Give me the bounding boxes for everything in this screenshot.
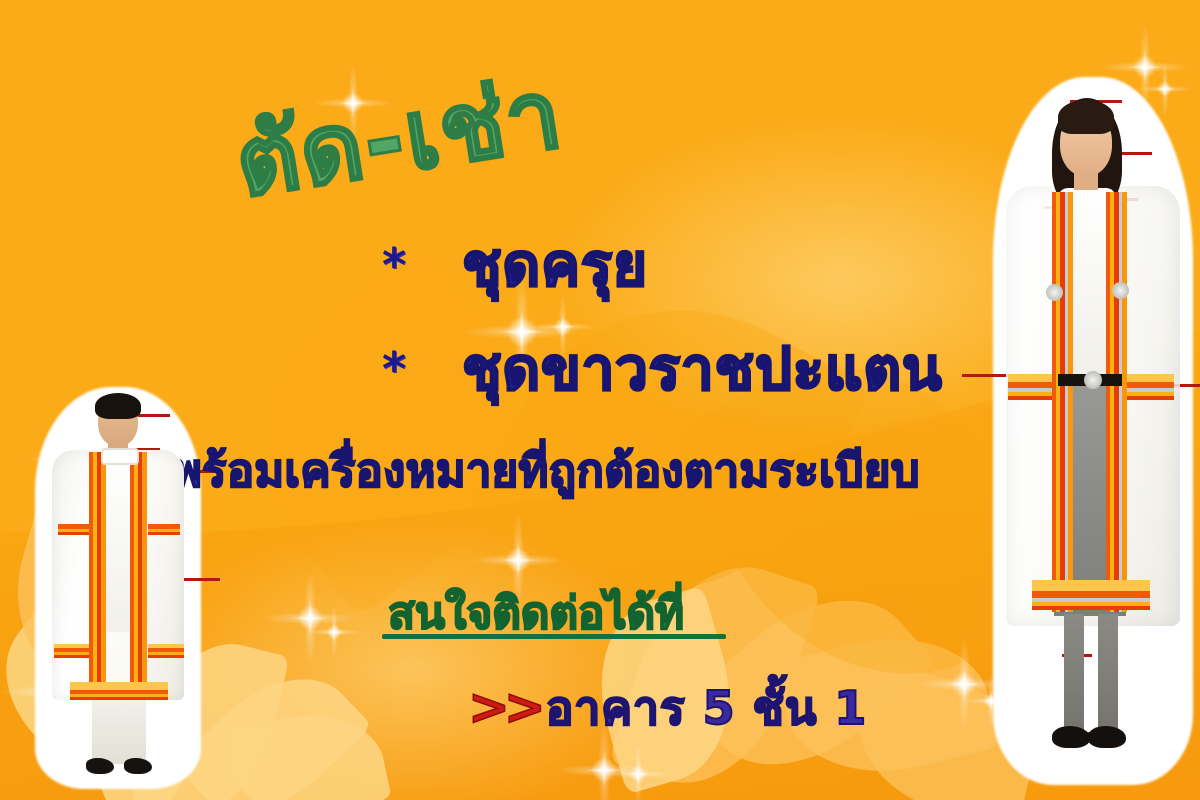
- bullet-label-rajapataen: ชุดขาวราชปะแตน: [462, 322, 943, 415]
- address-text: อาคาร 5 ชั้น 1: [546, 672, 868, 745]
- bullet-label-robe: ชุดครุย: [462, 218, 648, 311]
- bullet-item-rajapataen: * ชุดขาวราชปะแตน: [382, 322, 943, 415]
- chevron-right-icon: >>: [468, 678, 540, 736]
- contact-underline: [382, 634, 726, 639]
- bullet-item-robe: * ชุดครุย: [382, 218, 648, 311]
- bullet-marker-icon: *: [382, 242, 406, 288]
- subline-regulation-note: พร้อมเครื่องหมายที่ถูกต้องตามระเบียบ: [172, 434, 920, 506]
- bullet-marker-icon: *: [382, 346, 406, 392]
- address-line: >> อาคาร 5 ชั้น 1: [468, 672, 867, 745]
- promo-poster: ตัด-เช่า * ชุดครุย * ชุดขาวราชปะแตน พร้อ…: [0, 0, 1200, 800]
